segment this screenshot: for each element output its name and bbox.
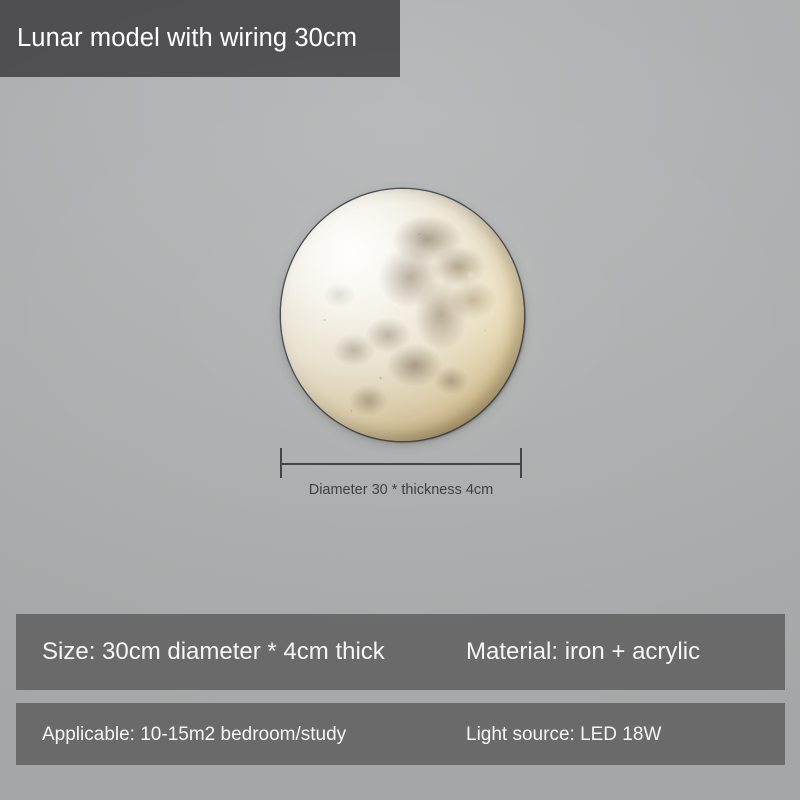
spec-size: Size: 30cm diameter * 4cm thick	[42, 640, 466, 664]
product-illustration: Diameter 30 * thickness 4cm	[0, 120, 800, 520]
spec-light-source: Light source: LED 18W	[466, 725, 785, 744]
page-title: Lunar model with wiring 30cm	[17, 26, 357, 52]
spec-row-applicable-lightsource: Applicable: 10-15m2 bedroom/study Light …	[16, 703, 785, 765]
moon-lamp	[281, 189, 527, 445]
spec-material: Material: iron + acrylic	[466, 640, 785, 664]
dimension-caliper: Diameter 30 * thickness 4cm	[279, 448, 523, 504]
spec-row-size-material: Size: 30cm diameter * 4cm thick Material…	[16, 614, 785, 690]
spec-applicable-area: Applicable: 10-15m2 bedroom/study	[42, 725, 466, 744]
dimension-label: Diameter 30 * thickness 4cm	[279, 482, 523, 498]
product-image-canvas: Lunar model with wiring 30cm Diameter 30…	[0, 0, 800, 800]
dimension-tick-left	[280, 448, 282, 478]
dimension-tick-right	[520, 448, 522, 478]
moon-crater-texture	[281, 189, 524, 441]
dimension-line	[280, 463, 522, 465]
title-banner: Lunar model with wiring 30cm	[0, 0, 400, 77]
spec-table: Size: 30cm diameter * 4cm thick Material…	[16, 614, 785, 765]
moon-face	[281, 189, 524, 441]
